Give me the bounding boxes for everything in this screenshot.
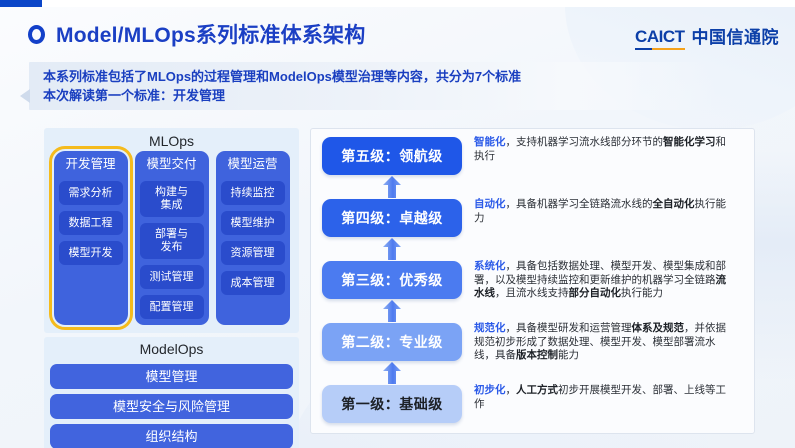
mlops-item[interactable]: 资源管理: [221, 241, 285, 265]
description-emphasis: 部分自动化: [569, 287, 622, 299]
modelops-bar[interactable]: 模型管理: [50, 364, 293, 389]
modelops-bar[interactable]: 组织结构: [50, 424, 293, 448]
title-row: Model/MLOps系列标准体系架构: [28, 19, 365, 49]
logo-name-text: 中国信通院: [692, 23, 780, 50]
description-emphasis: 智能化学习: [663, 136, 716, 148]
maturity-level-box[interactable]: 第三级：优秀级: [322, 261, 462, 299]
maturity-level-description: 初步化，人工方式初步开展模型开发、部署、上线等工作: [474, 384, 736, 411]
subtitle-line-1: 本系列标准包括了MLOps的过程管理和ModelOps模型治理等内容，共分为7个…: [43, 69, 521, 84]
maturity-descriptions: 智能化，支持机器学习流水线部分环节的智能化学习和执行自动化，具备机器学习全链路流…: [474, 137, 742, 427]
logo-mark-text: CAICT: [635, 27, 684, 50]
description-keyword: 自动化: [474, 198, 506, 210]
mlops-item[interactable]: 测试管理: [140, 265, 204, 289]
arrow-up-icon: [383, 300, 401, 322]
mlops-column-title: 模型交付: [140, 155, 204, 175]
description-emphasis: 体系及规范: [632, 322, 685, 334]
mlops-item[interactable]: 数据工程: [59, 211, 123, 235]
modelops-bar[interactable]: 模型安全与风险管理: [50, 394, 293, 419]
maturity-level-description: 系统化，具备包括数据处理、模型开发、模型集成和部署，以及模型持续监控和更新维护的…: [474, 260, 736, 301]
description-text: ，支持机器学习流水线部分环节的: [506, 136, 664, 148]
subtitle-text: 本系列标准包括了MLOps的过程管理和ModelOps模型治理等内容，共分为7个…: [43, 67, 521, 105]
maturity-level-box[interactable]: 第一级：基础级: [322, 385, 462, 423]
maturity-level-box[interactable]: 第五级：领航级: [322, 137, 462, 175]
slide-header: Model/MLOps系列标准体系架构 CAICT 中国信通院: [0, 7, 795, 57]
decorative-top-accent-bar: [0, 0, 42, 7]
mlops-column-1[interactable]: 开发管理需求分析数据工程模型开发: [54, 151, 128, 325]
ring-bullet-icon: [28, 25, 45, 44]
description-text: ，: [506, 384, 517, 396]
page-title: Model/MLOps系列标准体系架构: [56, 19, 365, 49]
spacer: [59, 271, 123, 280]
caict-logo: CAICT 中国信通院: [635, 23, 779, 50]
maturity-level-box[interactable]: 第二级：专业级: [322, 323, 462, 361]
maturity-level-box[interactable]: 第四级：卓越级: [322, 199, 462, 237]
description-emphasis: 全自动化: [653, 198, 695, 210]
modelops-block: ModelOps 模型管理模型安全与风险管理组织结构: [44, 337, 299, 448]
description-keyword: 智能化: [474, 136, 506, 148]
subtitle-banner: 本系列标准包括了MLOps的过程管理和ModelOps模型治理等内容，共分为7个…: [29, 62, 719, 110]
mlops-item[interactable]: 部署与发布: [140, 223, 204, 259]
mlops-item[interactable]: 成本管理: [221, 271, 285, 295]
mlops-block: MLOps 开发管理需求分析数据工程模型开发模型交付构建与集成部署与发布测试管理…: [44, 128, 299, 333]
maturity-level-description: 智能化，支持机器学习流水线部分环节的智能化学习和执行: [474, 136, 736, 163]
description-text: ，且流水线支持: [495, 287, 569, 299]
description-text: 执行能力: [621, 287, 663, 299]
standards-architecture-panel: MLOps 开发管理需求分析数据工程模型开发模型交付构建与集成部署与发布测试管理…: [44, 128, 299, 448]
description-text: ，具备模型研发和运营管理: [506, 322, 632, 334]
slide-root: Model/MLOps系列标准体系架构 CAICT 中国信通院 本系列标准包括了…: [0, 0, 795, 448]
modelops-heading: ModelOps: [50, 340, 293, 359]
mlops-column-2[interactable]: 模型交付构建与集成部署与发布测试管理配置管理: [135, 151, 209, 325]
decorative-top-strip: [42, 0, 795, 7]
mlops-item[interactable]: 配置管理: [140, 295, 204, 319]
description-text: ，具备机器学习全链路流水线的: [506, 198, 653, 210]
arrow-up-icon: [383, 238, 401, 260]
maturity-model-panel: 第五级：领航级第四级：卓越级第三级：优秀级第二级：专业级第一级：基础级 智能化，…: [310, 128, 755, 434]
description-text: ，具备包括数据处理、模型开发、模型集成和部署，以及模型持续监控和更新维护的机器学…: [474, 260, 726, 286]
description-emphasis: 版本控制: [516, 349, 558, 361]
arrow-up-icon: [383, 176, 401, 198]
description-keyword: 初步化: [474, 384, 506, 396]
maturity-level-description: 规范化，具备模型研发和运营管理体系及规范，并依据规范初步形成了数据处理、模型开发…: [474, 322, 736, 363]
description-keyword: 系统化: [474, 260, 506, 272]
ribbon-tail-icon: [20, 89, 30, 103]
mlops-item[interactable]: 持续监控: [221, 181, 285, 205]
description-emphasis: 人工方式: [516, 384, 558, 396]
mlops-column-title: 开发管理: [59, 155, 123, 175]
subtitle-line-2: 本次解读第一个标准：开发管理: [43, 86, 521, 105]
maturity-levels: 第五级：领航级第四级：卓越级第三级：优秀级第二级：专业级第一级：基础级: [322, 137, 462, 427]
mlops-column-title: 模型运营: [221, 155, 285, 175]
maturity-level-description: 自动化，具备机器学习全链路流水线的全自动化执行能力: [474, 198, 736, 225]
description-text: 能力: [558, 349, 579, 361]
mlops-item[interactable]: 模型维护: [221, 211, 285, 235]
mlops-item[interactable]: 构建与集成: [140, 181, 204, 217]
modelops-bars: 模型管理模型安全与风险管理组织结构: [50, 364, 293, 448]
mlops-item[interactable]: 需求分析: [59, 181, 123, 205]
mlops-heading: MLOps: [50, 132, 293, 151]
mlops-column-3[interactable]: 模型运营持续监控模型维护资源管理成本管理: [216, 151, 290, 325]
mlops-item[interactable]: 模型开发: [59, 241, 123, 265]
description-keyword: 规范化: [474, 322, 506, 334]
arrow-up-icon: [383, 362, 401, 384]
mlops-columns: 开发管理需求分析数据工程模型开发模型交付构建与集成部署与发布测试管理配置管理模型…: [50, 151, 293, 325]
